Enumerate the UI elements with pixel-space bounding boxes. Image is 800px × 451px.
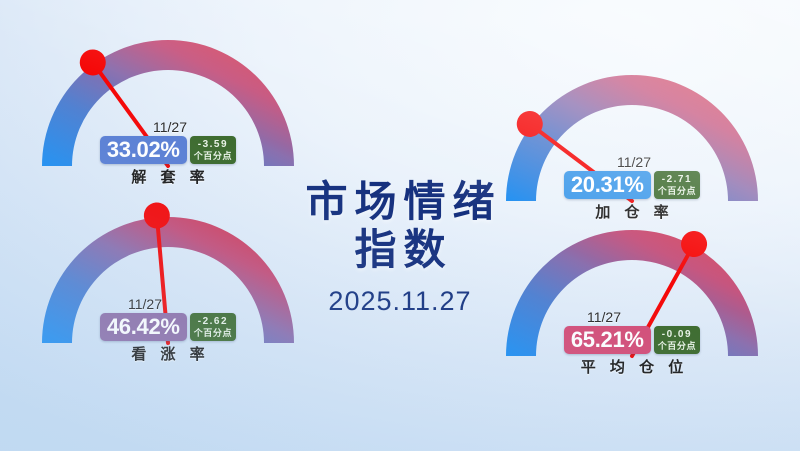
gauge-chip-row: 46.42% -2.62 个百分点	[53, 313, 283, 341]
gauge-readout: 11/27 33.02% -3.59 个百分点 解 套 率	[53, 120, 283, 187]
gauge-delta-unit: 个百分点	[194, 328, 232, 339]
gauge-delta-value: -3.59	[198, 139, 228, 151]
needle-knob	[512, 106, 548, 142]
gauge-value-chip[interactable]: 33.02%	[100, 136, 187, 164]
gauge-date-label: 11/27	[521, 155, 747, 169]
gauge-delta-value: -0.09	[662, 329, 692, 341]
gauge-delta-unit: 个百分点	[658, 186, 696, 197]
gauge-name-label: 解 套 率	[53, 166, 283, 187]
gauge-value-chip[interactable]: 46.42%	[100, 313, 187, 341]
gauge-jietaolv: 11/27 33.02% -3.59 个百分点 解 套 率	[18, 8, 318, 208]
gauge-chip-row: 65.21% -0.09 个百分点	[517, 326, 747, 354]
gauge-delta-value: -2.71	[662, 174, 692, 186]
gauge-chip-row: 20.31% -2.71 个百分点	[517, 171, 747, 199]
gauge-readout: 11/27 46.42% -2.62 个百分点 看 涨 率	[53, 297, 283, 364]
gauge-delta-badge: -2.71 个百分点	[654, 171, 700, 199]
gauge-name-label: 看 涨 率	[53, 343, 283, 364]
gauge-chip-row: 33.02% -3.59 个百分点	[53, 136, 283, 164]
gauge-date-label: 11/27	[7, 297, 283, 311]
gauge-delta-badge: -0.09 个百分点	[654, 326, 700, 354]
needle-knob	[143, 201, 171, 229]
gauge-date-label: 11/27	[461, 310, 747, 324]
gauge-delta-badge: -3.59 个百分点	[190, 136, 236, 164]
gauge-value-chip[interactable]: 20.31%	[564, 171, 651, 199]
gauge-readout: 11/27 65.21% -0.09 个百分点 平 均 仓 位	[517, 310, 747, 377]
needle-knob	[676, 226, 711, 261]
gauge-delta-unit: 个百分点	[658, 341, 696, 352]
gauge-name-label: 平 均 仓 位	[517, 356, 747, 377]
gauge-kanzhanglv: 11/27 46.42% -2.62 个百分点 看 涨 率	[18, 185, 318, 385]
infographic-canvas: 11/27 33.02% -3.59 个百分点 解 套 率	[0, 0, 800, 451]
gauge-date-label: 11/27	[57, 120, 283, 134]
gauge-delta-value: -2.62	[198, 316, 228, 328]
gauge-delta-unit: 个百分点	[194, 151, 232, 162]
gauge-delta-badge: -2.62 个百分点	[190, 313, 236, 341]
gauge-value-chip[interactable]: 65.21%	[564, 326, 651, 354]
needle-knob	[75, 44, 111, 80]
gauge-pingjuncangwei: 11/27 65.21% -0.09 个百分点 平 均 仓 位	[482, 198, 782, 398]
